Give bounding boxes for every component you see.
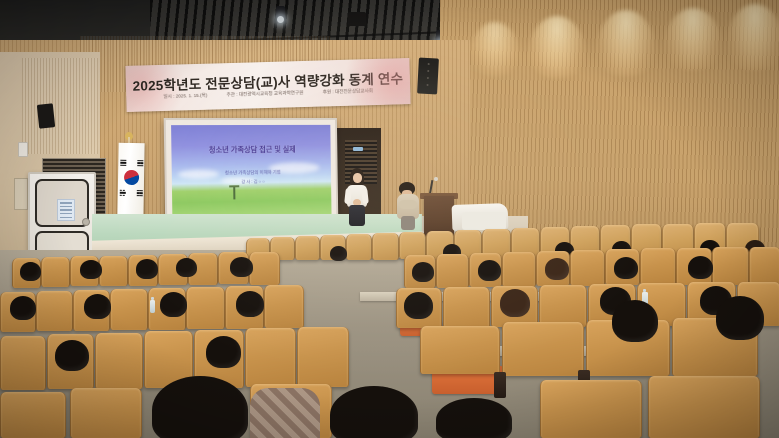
seat-foreground[interactable] (540, 380, 642, 438)
seat[interactable] (539, 285, 587, 327)
presenter-trousers (349, 205, 365, 226)
attendee-head (236, 291, 264, 317)
presenter-person (344, 168, 370, 226)
seat[interactable] (297, 327, 349, 387)
seat-foreground[interactable] (0, 392, 66, 438)
attendee-head (478, 260, 501, 281)
alcove-sign (353, 147, 363, 151)
greeter-person (395, 182, 421, 230)
attendee-head (20, 262, 41, 281)
attendee-head (412, 262, 434, 282)
wall-utility-box (14, 178, 28, 210)
wall-speaker-right (417, 58, 439, 95)
attendee-head (206, 336, 241, 368)
attendee-head (55, 340, 89, 371)
auditorium-photo: 2025학년도 전문상담(교)사 역량강화 동계 연수 일시 : 2025. 1… (0, 0, 779, 438)
banner-subtitle-host: 주관 : 대전광역시교육청 교육과학연구원 (226, 90, 303, 97)
left-wall-slats (22, 58, 98, 154)
event-banner: 2025학년도 전문상담(교)사 역량강화 동계 연수 일시 : 2025. 1… (125, 58, 410, 112)
ceiling-speaker (348, 12, 366, 26)
attendee-head (84, 294, 111, 319)
slide-subtitle: 청소년 가족상담의 이해와 기법 (172, 169, 331, 177)
attendee-head (80, 260, 102, 279)
attendee-head (176, 258, 197, 277)
door-notice-paper (57, 199, 75, 221)
seat[interactable] (443, 287, 490, 328)
slide-title: 청소년 가족상담 접근 및 실제 (171, 144, 330, 155)
attendee-head (688, 256, 713, 279)
seat[interactable] (95, 333, 143, 389)
seat[interactable] (0, 336, 46, 390)
taeguk-symbol (124, 170, 139, 185)
spotlight-lamp (277, 16, 284, 23)
light-switch-plate[interactable] (18, 142, 28, 157)
seat[interactable] (36, 291, 73, 331)
seat[interactable] (249, 252, 280, 285)
attendee-head (230, 257, 253, 277)
attendee-head (612, 300, 658, 342)
attendee-head (330, 246, 347, 261)
slide-tree (233, 185, 235, 199)
door-handle[interactable] (82, 218, 90, 226)
attendee-head-foreground (152, 376, 248, 438)
seat[interactable] (372, 233, 399, 260)
seat[interactable] (570, 250, 605, 286)
side-table-cloth-fold (462, 212, 506, 230)
projection-screen: 청소년 가족상담 접근 및 실제 청소년 가족상담의 이해와 기법 강 사 : … (164, 118, 339, 229)
seat[interactable] (749, 247, 779, 285)
podium-microphone (434, 177, 438, 181)
attendee-head (614, 257, 638, 279)
presenter-arm-right (361, 188, 369, 205)
seat-armrest (494, 372, 506, 398)
seat[interactable] (640, 248, 676, 285)
seat[interactable] (41, 257, 70, 287)
door-upper-panel (35, 179, 89, 227)
wall-speaker-left (37, 103, 55, 129)
presenter-face (353, 173, 362, 183)
greeter-legs (401, 216, 415, 230)
seat[interactable] (502, 252, 536, 287)
greeter-arms (399, 200, 417, 209)
attendee-shawl (250, 388, 320, 438)
seat[interactable] (420, 326, 500, 374)
attendee-head (10, 296, 36, 320)
seat-foreground[interactable] (70, 388, 142, 438)
seat[interactable] (264, 285, 304, 328)
water-bottle[interactable] (150, 300, 155, 313)
seat-foreground[interactable] (648, 376, 760, 438)
seat[interactable] (502, 322, 584, 376)
attendee-head (404, 292, 433, 319)
seat[interactable] (186, 287, 225, 329)
attendee-head (545, 258, 569, 280)
attendee-head-foreground (330, 386, 418, 438)
seat[interactable] (346, 234, 372, 260)
attendee-head-foreground (436, 398, 512, 438)
attendee-head (500, 289, 530, 317)
seat[interactable] (99, 256, 128, 286)
seat[interactable] (245, 328, 296, 387)
seat[interactable] (110, 289, 148, 330)
seat[interactable] (436, 254, 469, 288)
projection-screen-surface: 청소년 가족상담 접근 및 실제 청소년 가족상담의 이해와 기법 강 사 : … (171, 125, 331, 220)
korean-flag-icon (117, 143, 144, 219)
seat[interactable] (295, 236, 320, 260)
seat[interactable] (712, 247, 749, 285)
slide-tree-branch (229, 185, 239, 187)
banner-subtitle-date: 일시 : 2025. 1. 15.(목) (163, 93, 207, 99)
attendee-head (716, 296, 764, 340)
banner-subtitle-sponsor: 후원 : 대전전문상담교사회 (323, 88, 373, 94)
slide-presenter: 강 사 : 김 ○ ○ (172, 178, 331, 187)
attendee-head (136, 259, 158, 279)
attendee-head (160, 292, 187, 317)
